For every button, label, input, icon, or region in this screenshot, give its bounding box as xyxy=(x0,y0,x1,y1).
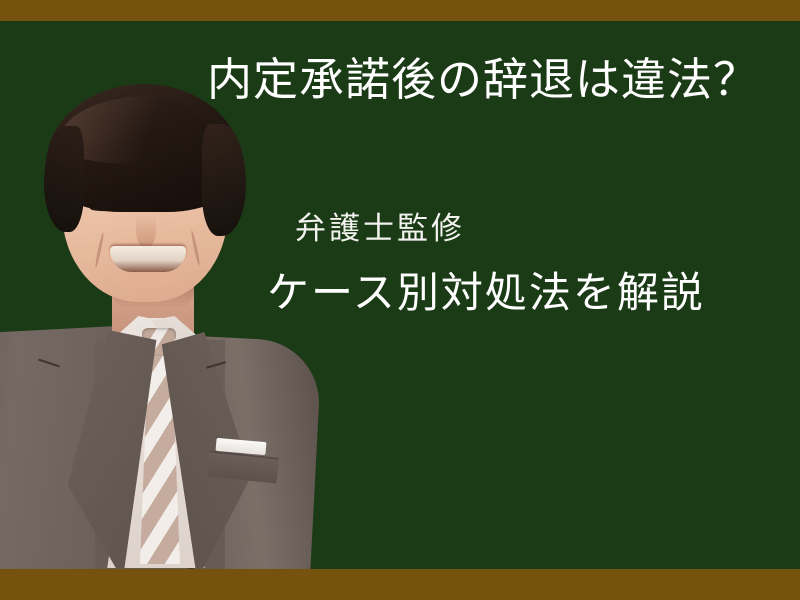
banner-headline: 内定承諾後の辞退は違法？ xyxy=(207,57,759,102)
bottom-accent-bar xyxy=(0,569,800,600)
banner-canvas: 内定承諾後の辞退は違法？ 弁護士監修 ケース別対処法を解説 xyxy=(0,0,800,600)
nose xyxy=(136,214,156,248)
hair-side-left xyxy=(44,126,84,232)
banner-subhead: ケース別対処法を解説 xyxy=(267,272,705,314)
smiling-mouth xyxy=(110,246,186,272)
hair-side-right xyxy=(202,124,246,236)
banner-kicker: 弁護士監修 xyxy=(295,213,465,244)
chin xyxy=(118,272,174,292)
